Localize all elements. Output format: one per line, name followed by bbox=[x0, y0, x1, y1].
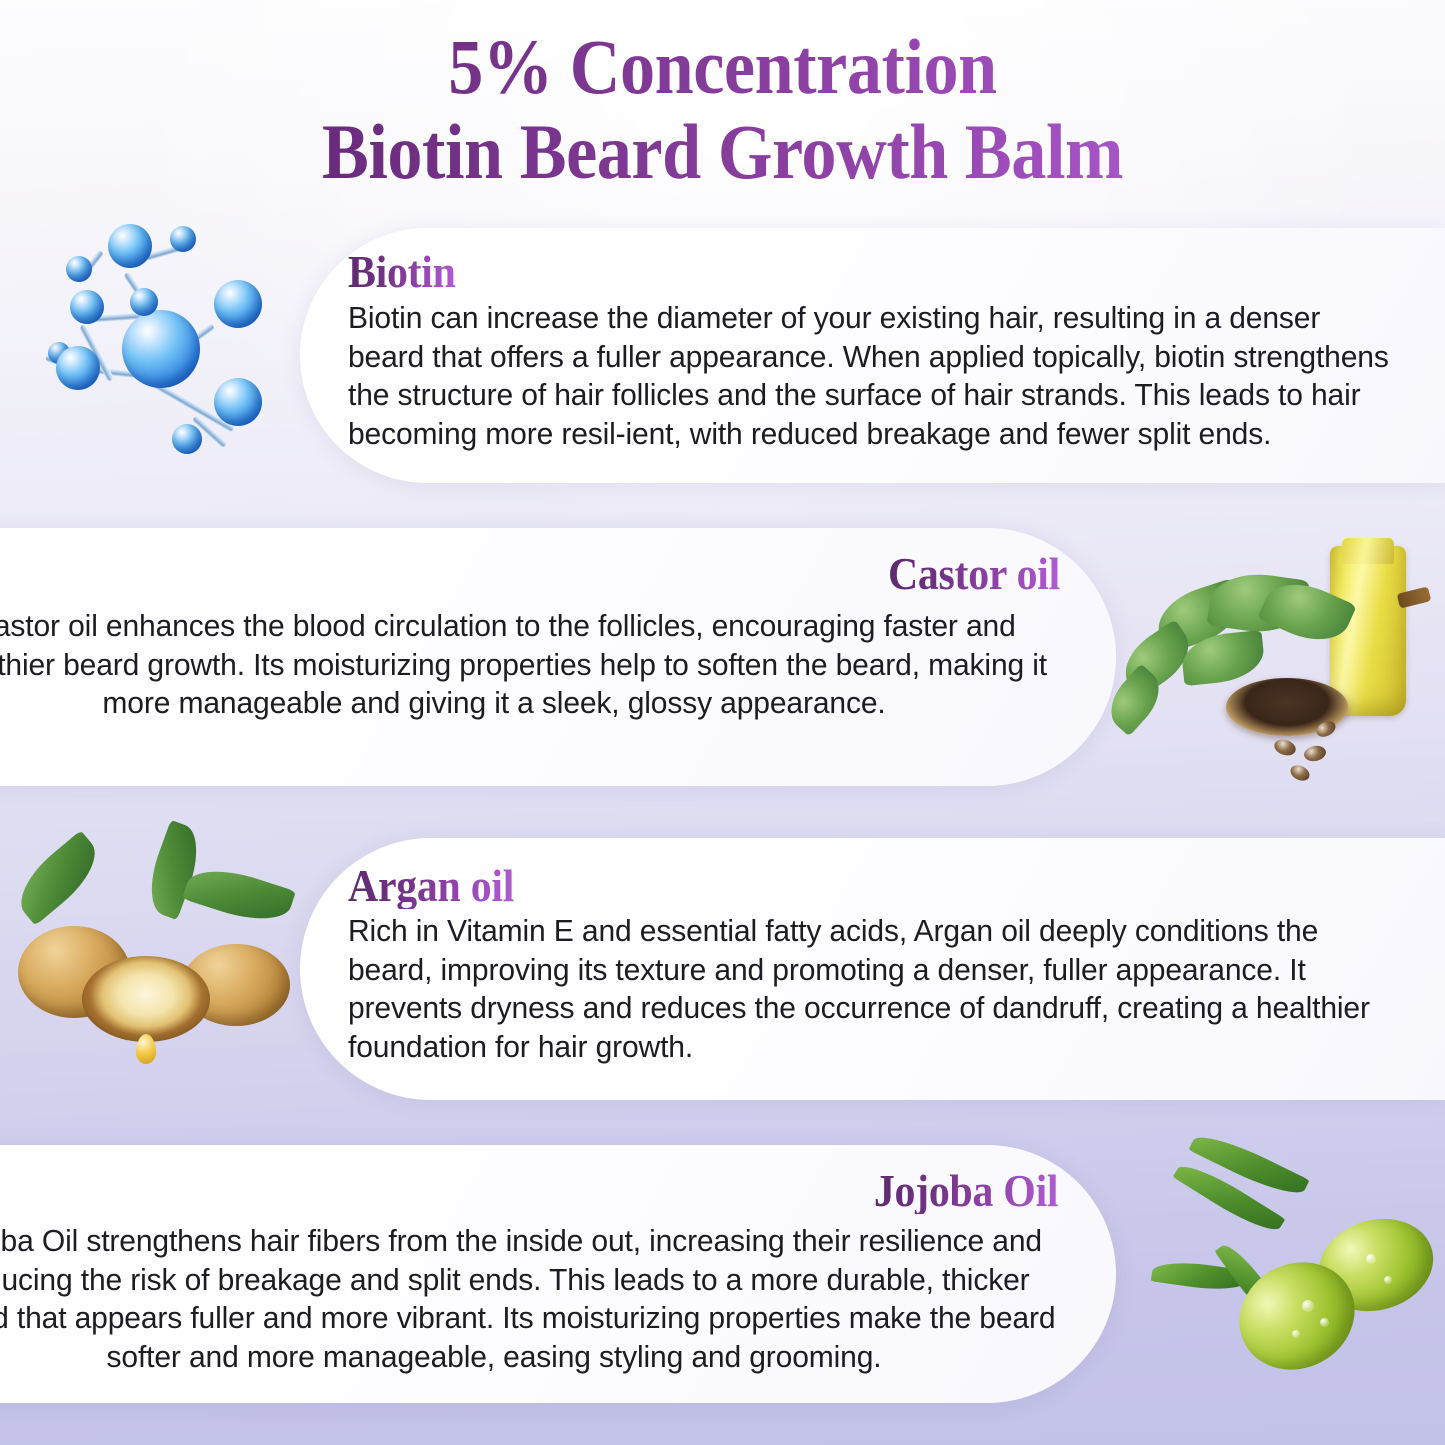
page-title: 5% Concentration Biotin Beard Growth Bal… bbox=[0, 26, 1445, 192]
ingredient-heading: Jojoba Oil bbox=[874, 1169, 1058, 1214]
castor-oil-plant-bottle-image bbox=[1098, 528, 1445, 813]
argan-leaf bbox=[139, 820, 208, 920]
castor-bean bbox=[1288, 762, 1312, 783]
water-droplet bbox=[1366, 1254, 1376, 1264]
argan-oil-droplet bbox=[136, 1034, 156, 1064]
ingredient-description: Rich in Vitamin E and essential fatty ac… bbox=[348, 912, 1389, 1066]
biotin-molecule-image bbox=[18, 218, 318, 478]
ingredient-card-biotin: Biotin Biotin can increase the diameter … bbox=[300, 228, 1445, 483]
argan-leaf bbox=[7, 830, 109, 925]
ingredient-card-castor-oil: Castor oil Castor oil enhances the blood… bbox=[0, 528, 1116, 786]
title-line-1: 5% Concentration bbox=[72, 26, 1373, 107]
molecule-node bbox=[70, 290, 104, 324]
argan-nut-open bbox=[82, 956, 210, 1042]
card-heading-row: Argan oil bbox=[348, 864, 1405, 909]
oil-bottle-neck bbox=[1342, 538, 1394, 564]
water-droplet bbox=[1320, 1318, 1329, 1327]
castor-bean bbox=[1303, 744, 1328, 763]
ingredient-heading: Castor oil bbox=[888, 552, 1060, 597]
ingredient-heading: Argan oil bbox=[348, 864, 514, 909]
molecule-node bbox=[108, 224, 152, 268]
card-heading-row: Jojoba Oil bbox=[0, 1169, 1068, 1214]
ingredient-card-argan-oil: Argan oil Rich in Vitamin E and essentia… bbox=[300, 838, 1445, 1100]
card-heading-row: Biotin bbox=[348, 250, 1405, 295]
molecule-node bbox=[214, 378, 262, 426]
castor-bean bbox=[1272, 737, 1298, 758]
ingredient-description: Castor oil enhances the blood circulatio… bbox=[0, 607, 1059, 723]
ingredient-description: Jojoba Oil strengthens hair fibers from … bbox=[0, 1222, 1059, 1376]
molecule-node bbox=[170, 226, 196, 252]
title-line-2: Biotin Beard Growth Balm bbox=[72, 111, 1373, 192]
water-droplet bbox=[1302, 1300, 1314, 1312]
molecule-node bbox=[122, 310, 200, 388]
molecule-node bbox=[66, 256, 92, 282]
card-heading-row: Castor oil bbox=[0, 552, 1068, 597]
molecule-node bbox=[130, 288, 158, 316]
argan-nuts-image bbox=[0, 848, 300, 1098]
molecule-node bbox=[56, 346, 100, 390]
jojoba-olives-image bbox=[1152, 1142, 1445, 1442]
molecule-node bbox=[172, 424, 202, 454]
water-droplet bbox=[1384, 1276, 1392, 1284]
water-droplet bbox=[1292, 1330, 1300, 1338]
product-infographic: 5% Concentration Biotin Beard Growth Bal… bbox=[0, 0, 1445, 1445]
ingredient-heading: Biotin bbox=[348, 250, 456, 295]
argan-leaf bbox=[182, 859, 296, 932]
molecule-node bbox=[214, 280, 262, 328]
ingredient-card-jojoba-oil: Jojoba Oil Jojoba Oil strengthens hair f… bbox=[0, 1145, 1116, 1403]
ingredient-description: Biotin can increase the diameter of your… bbox=[348, 299, 1389, 453]
